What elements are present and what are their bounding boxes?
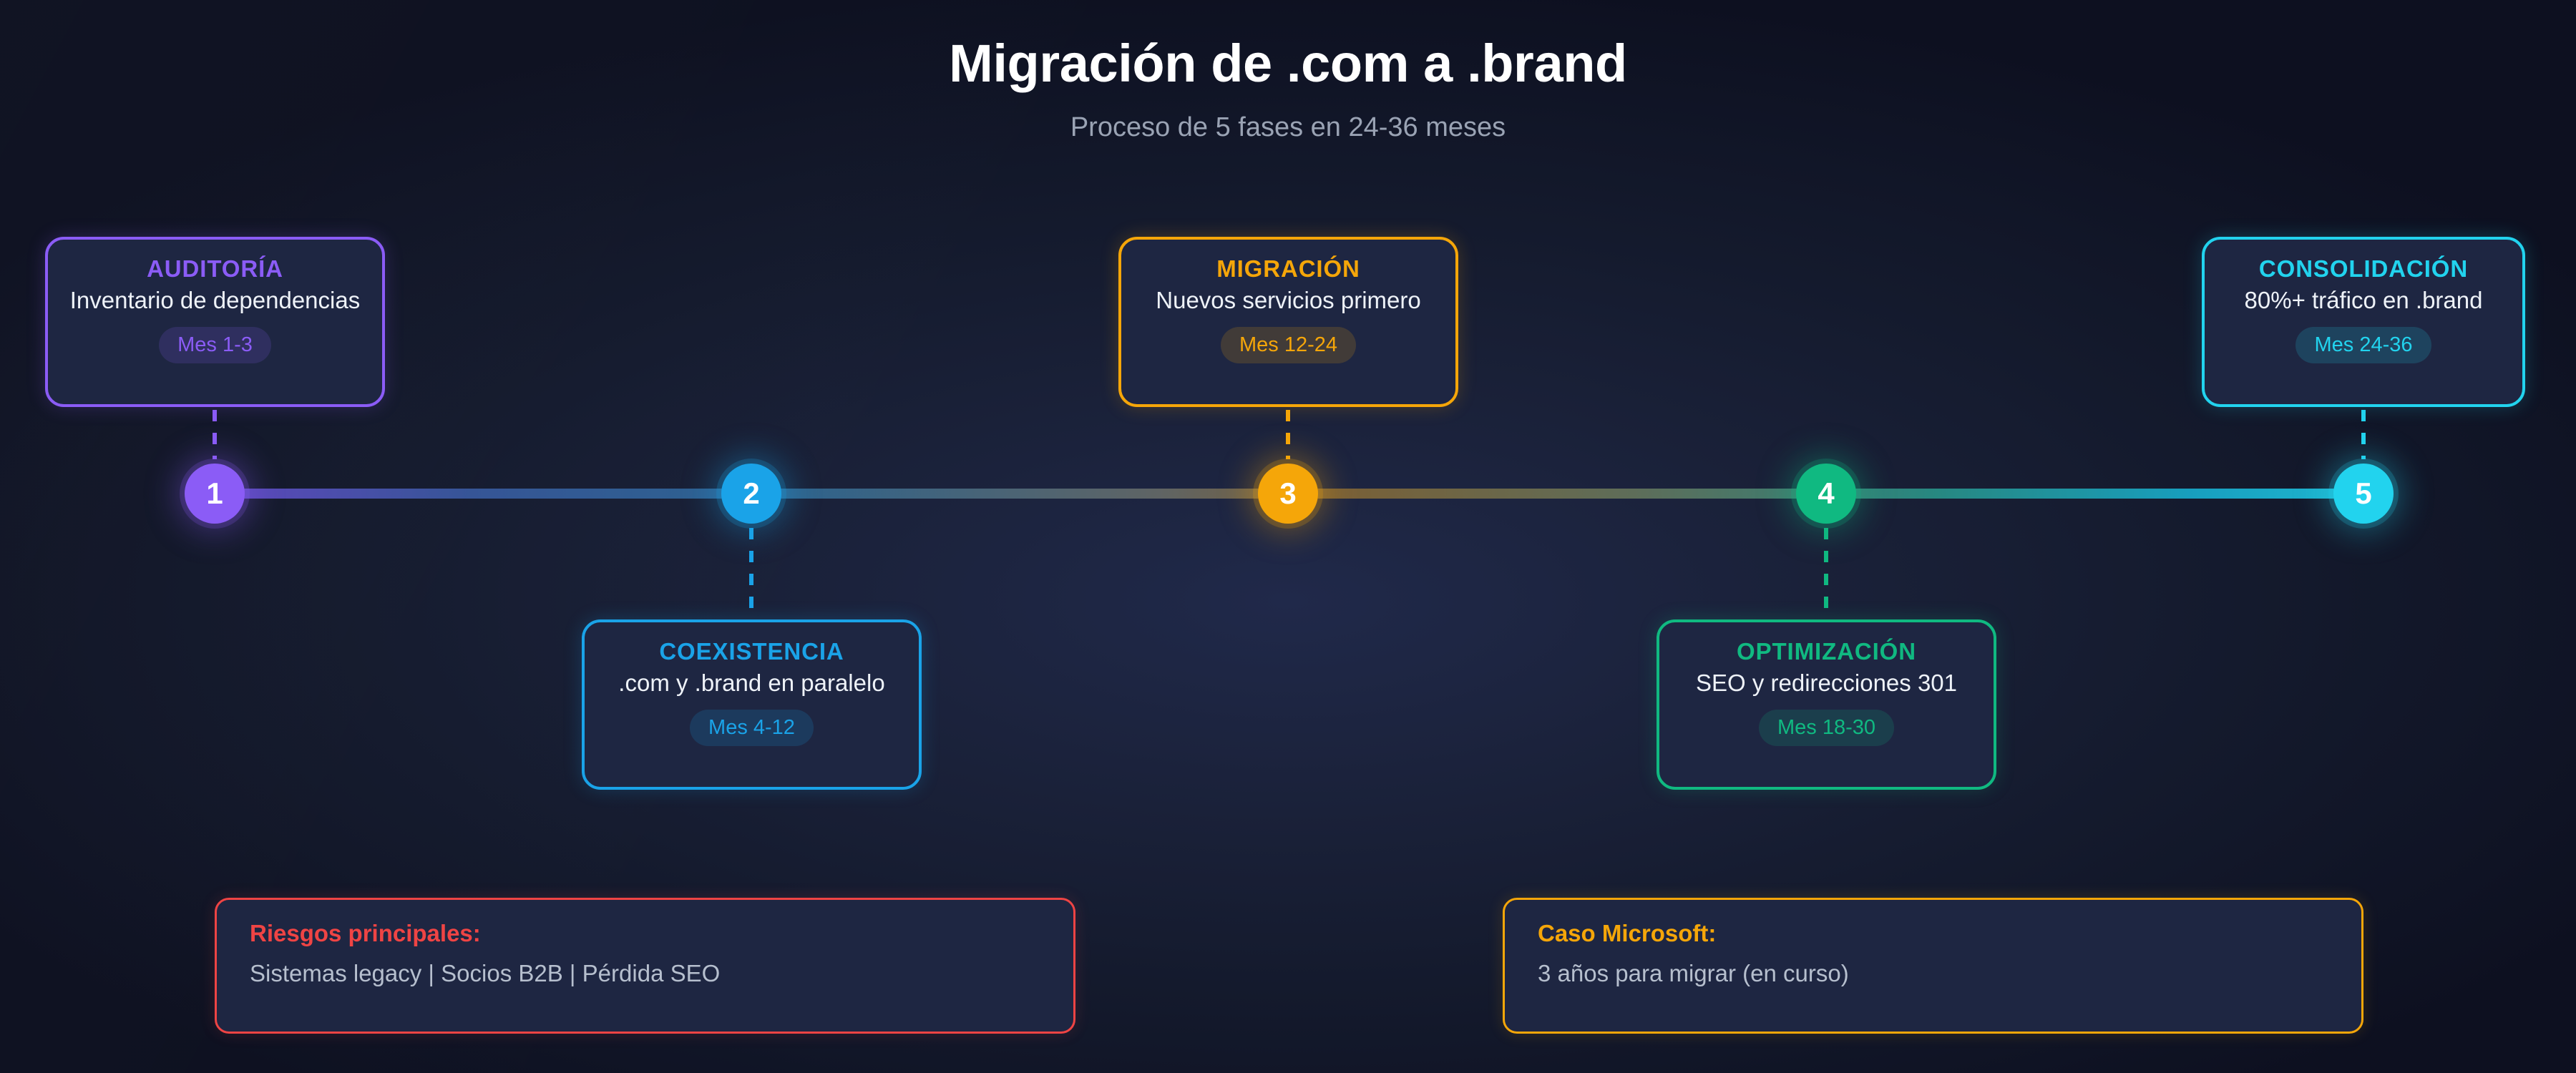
- timeline-node[interactable]: 3: [1258, 464, 1318, 524]
- header: Migración de .com a .brand Proceso de 5 …: [0, 0, 2576, 143]
- phase-badge-row: Mes 4-12: [606, 710, 897, 746]
- phase-month-badge: Mes 24-36: [2296, 327, 2431, 363]
- phase-month-badge: Mes 4-12: [690, 710, 814, 746]
- callout-box[interactable]: Riesgos principales:Sistemas legacy | So…: [215, 898, 1075, 1034]
- phase-title: CONSOLIDACIÓN: [2226, 255, 2501, 283]
- phase-connector-line: [2361, 410, 2366, 459]
- page-subtitle: Proceso de 5 fases en 24-36 meses: [0, 94, 2576, 143]
- callout-box[interactable]: Caso Microsoft:3 años para migrar (en cu…: [1503, 898, 2363, 1034]
- page-title: Migración de .com a .brand: [0, 0, 2576, 94]
- phase-badge-row: Mes 12-24: [1143, 327, 1434, 363]
- phase-connector-line: [749, 528, 753, 617]
- callout-body: 3 años para migrar (en curso): [1538, 960, 2328, 987]
- timeline-node-number: 3: [1279, 476, 1296, 511]
- phase-card[interactable]: CONSOLIDACIÓN80%+ tráfico en .brandMes 2…: [2202, 237, 2525, 407]
- phase-month-badge: Mes 12-24: [1221, 327, 1356, 363]
- timeline-node-number: 1: [206, 476, 223, 511]
- phase-title: OPTIMIZACIÓN: [1681, 638, 1972, 665]
- phase-card[interactable]: OPTIMIZACIÓNSEO y redirecciones 301Mes 1…: [1657, 619, 1996, 790]
- phase-description: 80%+ tráfico en .brand: [2226, 287, 2501, 314]
- infographic-canvas: Migración de .com a .brand Proceso de 5 …: [0, 0, 2576, 1073]
- phase-connector-line: [213, 410, 217, 459]
- callout-body: Sistemas legacy | Socios B2B | Pérdida S…: [250, 960, 1040, 987]
- phase-title: MIGRACIÓN: [1143, 255, 1434, 283]
- timeline-node[interactable]: 2: [721, 464, 781, 524]
- phase-description: Inventario de dependencias: [69, 287, 361, 314]
- phase-description: .com y .brand en paralelo: [606, 670, 897, 697]
- phase-badge-row: Mes 18-30: [1681, 710, 1972, 746]
- phase-connector-line: [1286, 410, 1290, 459]
- phase-month-badge: Mes 1-3: [159, 327, 271, 363]
- timeline-node[interactable]: 5: [2333, 464, 2394, 524]
- callout-title: Riesgos principales:: [250, 920, 1040, 947]
- phase-badge-row: Mes 1-3: [69, 327, 361, 363]
- phase-card[interactable]: MIGRACIÓNNuevos servicios primeroMes 12-…: [1118, 237, 1458, 407]
- phase-month-badge: Mes 18-30: [1759, 710, 1894, 746]
- timeline-node-number: 4: [1818, 476, 1834, 511]
- timeline-node[interactable]: 1: [185, 464, 245, 524]
- phase-description: Nuevos servicios primero: [1143, 287, 1434, 314]
- callout-title: Caso Microsoft:: [1538, 920, 2328, 947]
- timeline-node-number: 2: [743, 476, 759, 511]
- phase-connector-line: [1824, 528, 1828, 617]
- phase-description: SEO y redirecciones 301: [1681, 670, 1972, 697]
- phase-card[interactable]: COEXISTENCIA.com y .brand en paraleloMes…: [582, 619, 922, 790]
- phase-card[interactable]: AUDITORÍAInventario de dependenciasMes 1…: [45, 237, 385, 407]
- phase-title: AUDITORÍA: [69, 255, 361, 283]
- phase-title: COEXISTENCIA: [606, 638, 897, 665]
- timeline-node[interactable]: 4: [1796, 464, 1856, 524]
- phase-badge-row: Mes 24-36: [2226, 327, 2501, 363]
- timeline-node-number: 5: [2355, 476, 2371, 511]
